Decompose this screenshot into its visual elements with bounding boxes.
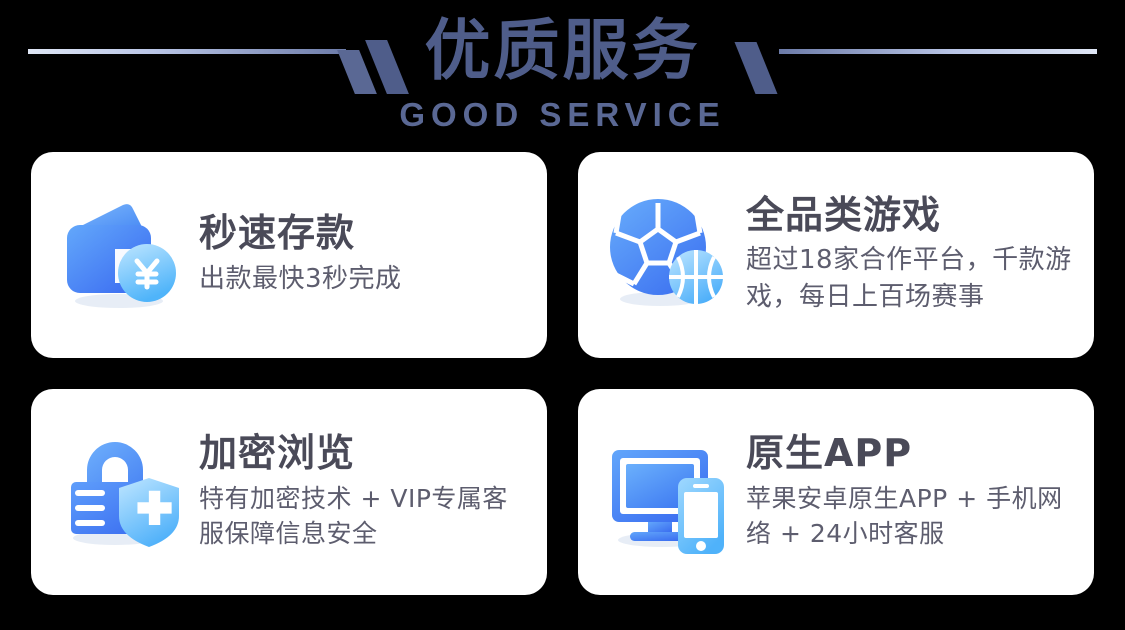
- wallet-yen-icon: [57, 191, 185, 319]
- feature-grid: 秒速存款 出款最快3秒完成: [31, 152, 1094, 592]
- lock-shield-icon: [57, 428, 185, 556]
- feature-card-text: 秒速存款 出款最快3秒完成: [199, 212, 525, 297]
- page-header: 优质服务 GOOD SERVICE: [0, 0, 1125, 145]
- feature-card-native-app[interactable]: 原生APP 苹果安卓原生APP + 手机网络 + 24小时客服: [578, 389, 1094, 595]
- feature-card-subtitle: 苹果安卓原生APP + 手机网络 + 24小时客服: [746, 481, 1072, 552]
- feature-card-subtitle: 出款最快3秒完成: [199, 261, 525, 298]
- monitor-phone-icon: [604, 428, 732, 556]
- feature-card-games[interactable]: 全品类游戏 超过18家合作平台，千款游戏，每日上百场赛事: [578, 152, 1094, 358]
- page-subtitle: GOOD SERVICE: [0, 96, 1125, 134]
- soccer-basketball-icon: [604, 191, 732, 319]
- feature-card-subtitle: 超过18家合作平台，千款游戏，每日上百场赛事: [746, 242, 1072, 316]
- feature-card-title: 原生APP: [746, 432, 1072, 475]
- feature-card-text: 加密浏览 特有加密技术 + VIP专属客服保障信息安全: [199, 432, 525, 552]
- feature-card-text: 原生APP 苹果安卓原生APP + 手机网络 + 24小时客服: [746, 432, 1072, 552]
- page-title: 优质服务: [0, 10, 1125, 93]
- feature-card-subtitle: 特有加密技术 + VIP专属客服保障信息安全: [199, 481, 525, 552]
- feature-card-deposit[interactable]: 秒速存款 出款最快3秒完成: [31, 152, 547, 358]
- feature-card-encryption[interactable]: 加密浏览 特有加密技术 + VIP专属客服保障信息安全: [31, 389, 547, 595]
- page-root: 优质服务 GOOD SERVICE: [0, 0, 1125, 630]
- feature-card-text: 全品类游戏 超过18家合作平台，千款游戏，每日上百场赛事: [746, 194, 1072, 316]
- feature-card-title: 加密浏览: [199, 432, 525, 475]
- feature-card-title: 全品类游戏: [746, 194, 1072, 237]
- feature-card-title: 秒速存款: [199, 212, 525, 255]
